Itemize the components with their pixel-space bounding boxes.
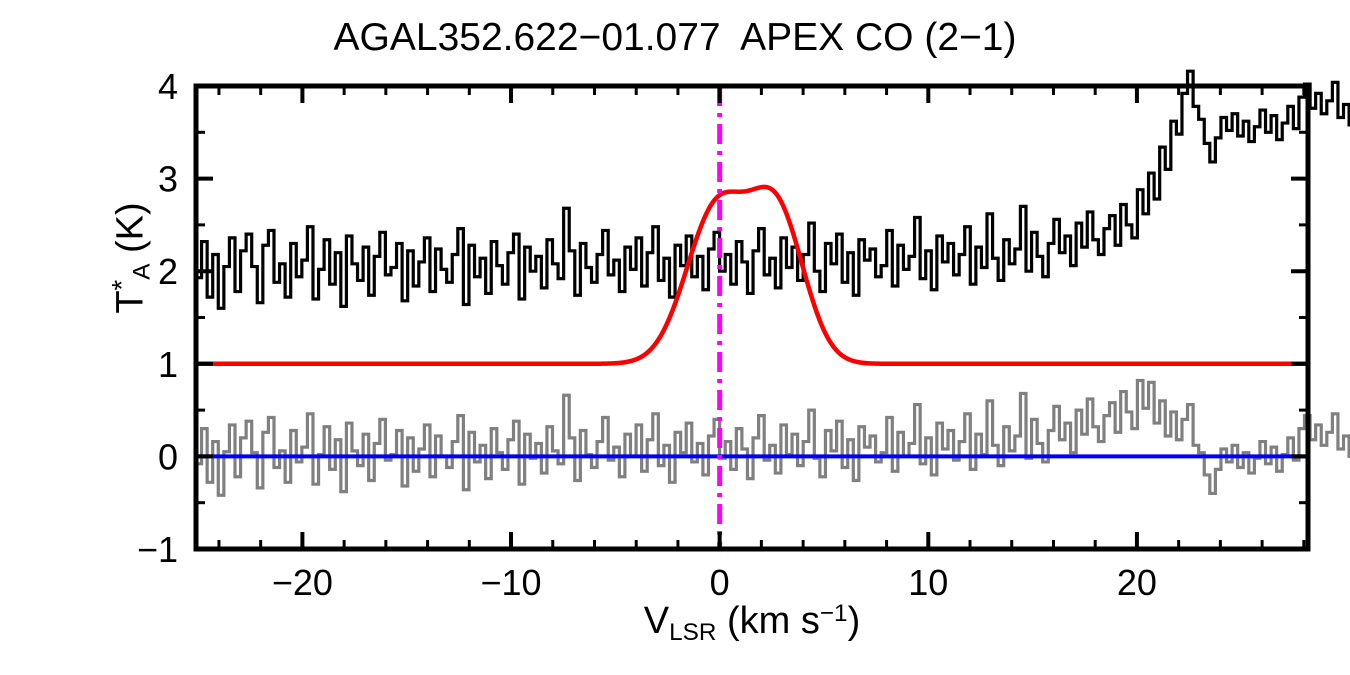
x-tick-label: 20 xyxy=(1117,562,1157,603)
spectrum-figure: AGAL352.622−01.077 APEX CO (2−1) T*A (K)… xyxy=(0,0,1350,675)
y-tick-label: 0 xyxy=(158,436,178,477)
x-tick-label: −10 xyxy=(480,562,541,603)
x-tick-label: −20 xyxy=(272,562,333,603)
y-tick-label: −1 xyxy=(137,529,178,570)
x-tick-label: 10 xyxy=(908,562,948,603)
residual-spectrum-trace xyxy=(196,380,1350,543)
y-tick-label: 1 xyxy=(158,344,178,385)
y-tick-label: 3 xyxy=(158,159,178,200)
y-tick-label: 2 xyxy=(158,251,178,292)
y-tick-label: 4 xyxy=(158,66,178,107)
chart-canvas: −20−1001020−101234 xyxy=(0,0,1350,675)
x-tick-label: 0 xyxy=(710,562,730,603)
axis-tick-labels: −20−1001020−101234 xyxy=(137,66,1157,603)
